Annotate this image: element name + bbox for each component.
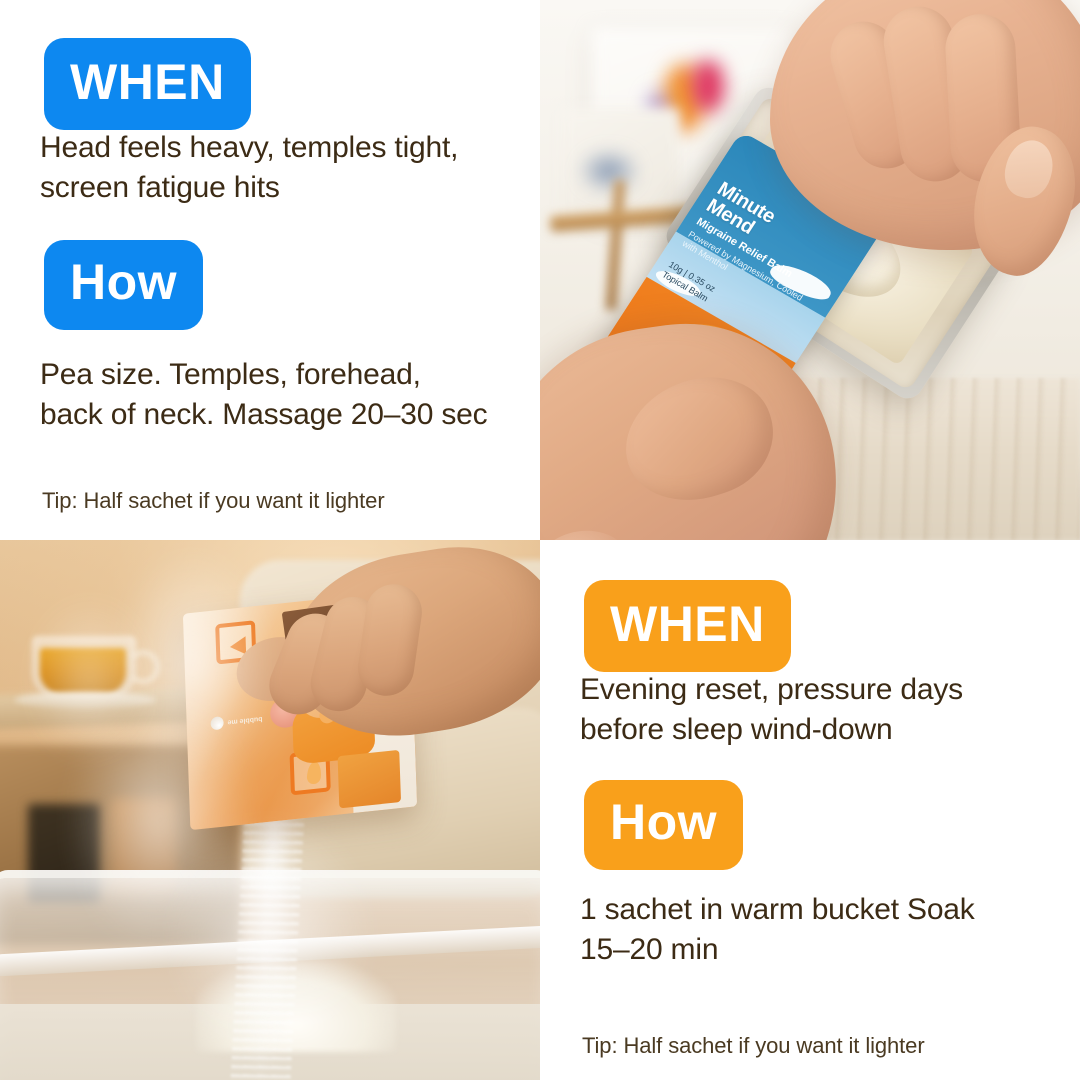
tip-text-balm: Tip: Half sachet if you want it lighter xyxy=(42,487,512,516)
panel-soak-instructions: WHEN Evening reset, pressure days before… xyxy=(540,540,1080,1080)
tip-text-soak: Tip: Half sachet if you want it lighter xyxy=(582,1032,1052,1061)
when-body-balm: Head feels heavy, temples tight, screen … xyxy=(40,128,490,208)
photo-bath-salt-pour: bubble me Migraine Re BATH SALT 60g | 2.… xyxy=(0,540,540,1080)
when-badge-orange: WHEN xyxy=(584,580,791,672)
steam-wisp-4 xyxy=(30,600,150,760)
artwork-blob-pink xyxy=(690,58,726,114)
steam-wisp-3 xyxy=(170,820,370,1050)
four-quadrant-layout: WHEN Head feels heavy, temples tight, sc… xyxy=(0,0,1080,1080)
how-body-soak: 1 sachet in warm bucket Soak 15–20 min xyxy=(580,890,1030,970)
panel-balm-instructions: WHEN Head feels heavy, temples tight, sc… xyxy=(0,0,540,540)
sachet-bath-illustration xyxy=(338,750,401,809)
artwork-blob-blue xyxy=(580,150,638,192)
knuckle-highlight-1 xyxy=(540,525,633,540)
photo-balm-tin: bubble me Minute Mend Migraine Relief Ba… xyxy=(540,0,1080,540)
when-badge-blue: WHEN xyxy=(44,38,251,130)
how-badge-orange: How xyxy=(584,780,743,870)
how-body-balm: Pea size. Temples, forehead, back of nec… xyxy=(40,355,490,435)
when-body-soak: Evening reset, pressure days before slee… xyxy=(580,670,1030,750)
how-badge-blue: How xyxy=(44,240,203,330)
